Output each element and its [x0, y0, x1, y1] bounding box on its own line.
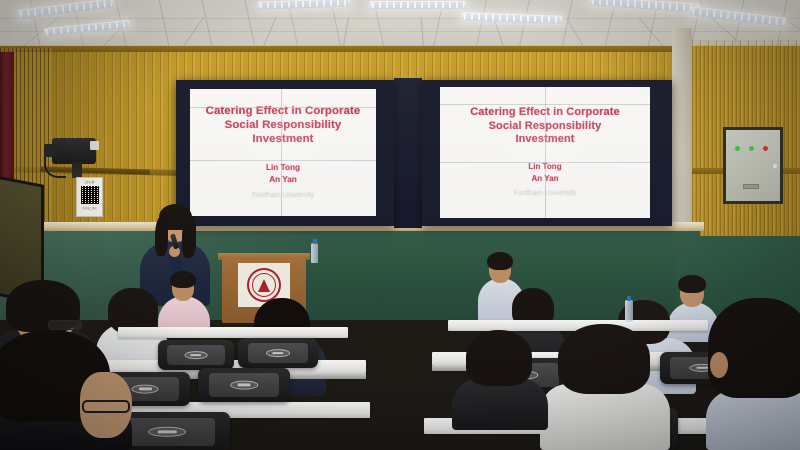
right-screen-surface: Catering Effect in Corporate Social Resp… [440, 87, 650, 218]
control-panel-slot [743, 184, 759, 189]
led-indicator-3 [763, 146, 768, 151]
led-indicator-2 [749, 146, 754, 151]
chair-mid-center[interactable] [198, 368, 290, 402]
water-bottle-desk [625, 300, 633, 322]
qr-code-icon [81, 186, 99, 204]
audience-ear [710, 352, 728, 378]
right-slide-title: Catering Effect in Corporate Social Resp… [470, 106, 619, 146]
left-slide-affiliation: Fordham University [252, 189, 314, 200]
right-projection-screen: Catering Effect in Corporate Social Resp… [422, 80, 672, 226]
chair-logo-badge [185, 351, 208, 359]
eyeglasses-icon-2 [82, 400, 130, 413]
left-slide-title: Catering Effect in Corporate Social Resp… [206, 105, 361, 147]
qr-sign-caption: 扫码入群 [85, 180, 95, 184]
audience-member-mid-right-2 [452, 330, 548, 430]
audience-torso [706, 390, 800, 450]
right-slide-title-line-3: Investment [470, 133, 619, 146]
chair-logo-badge [230, 381, 258, 390]
video-camera-icon [52, 138, 96, 164]
left-slide-author-1: Lin Tong [252, 162, 314, 175]
presenter-hair-right-strand [182, 216, 196, 258]
crest-inner-mark [258, 279, 270, 292]
wall-control-panel[interactable] [723, 127, 783, 204]
camera-neck [72, 162, 82, 178]
left-slide-author-2: An Yan [252, 174, 314, 187]
audience-hair [708, 298, 800, 398]
right-slide-title-line-2: Social Responsibility [470, 120, 619, 133]
left-slide-title-line-2: Social Responsibility [206, 119, 361, 133]
water-bottle-podium [311, 243, 318, 263]
eyeglasses-icon [48, 320, 82, 330]
audience-member-front-center [540, 324, 670, 450]
chair-logo-badge [132, 385, 159, 394]
ceiling-light-4 [370, 1, 466, 9]
desk-row-back-left [118, 327, 348, 338]
left-slide-authors: Lin Tong An Yan Fordham University [252, 162, 314, 201]
chair-back-left[interactable] [158, 340, 234, 370]
qr-code-sign: 扫码入群 请扫描二维码 [76, 177, 103, 217]
led-indicator-1 [735, 146, 740, 151]
audience-hair [170, 271, 196, 288]
audience-member-front-left-2 [0, 330, 132, 450]
audience-hair [487, 252, 513, 270]
chair-logo-badge [266, 349, 290, 357]
left-slide-title-line-1: Catering Effect in Corporate [206, 105, 361, 119]
audience-hair [558, 324, 650, 394]
control-panel-leds [735, 146, 768, 151]
lecture-hall-photo: 扫码入群 请扫描二维码 Catering Effect in Corporate… [0, 0, 800, 450]
right-slide-title-line-1: Catering Effect in Corporate [470, 106, 619, 119]
right-slide-affiliation: Fordham University [514, 187, 576, 198]
right-slide-content: Catering Effect in Corporate Social Resp… [440, 87, 650, 218]
audience-hair [678, 275, 706, 293]
control-panel-knob[interactable] [773, 164, 777, 168]
right-slide-author-1: Lin Tong [514, 161, 576, 173]
left-slide-content: Catering Effect in Corporate Social Resp… [190, 89, 376, 216]
right-slide-authors: Lin Tong An Yan Fordham University [514, 161, 576, 199]
left-slide-title-line-3: Investment [206, 133, 361, 147]
audience-member-front-right [706, 298, 800, 450]
audience-hair [466, 330, 532, 386]
screen-divider-gap [394, 78, 422, 228]
chair-back-right[interactable] [238, 338, 318, 368]
right-slide-author-2: An Yan [514, 173, 576, 185]
presenter-hair-left-strand [155, 216, 168, 256]
wall-trim-upper [0, 46, 690, 52]
qr-sign-footer: 请扫描二维码 [82, 206, 96, 210]
university-crest-icon [247, 268, 281, 302]
left-screen-surface: Catering Effect in Corporate Social Resp… [190, 89, 376, 216]
